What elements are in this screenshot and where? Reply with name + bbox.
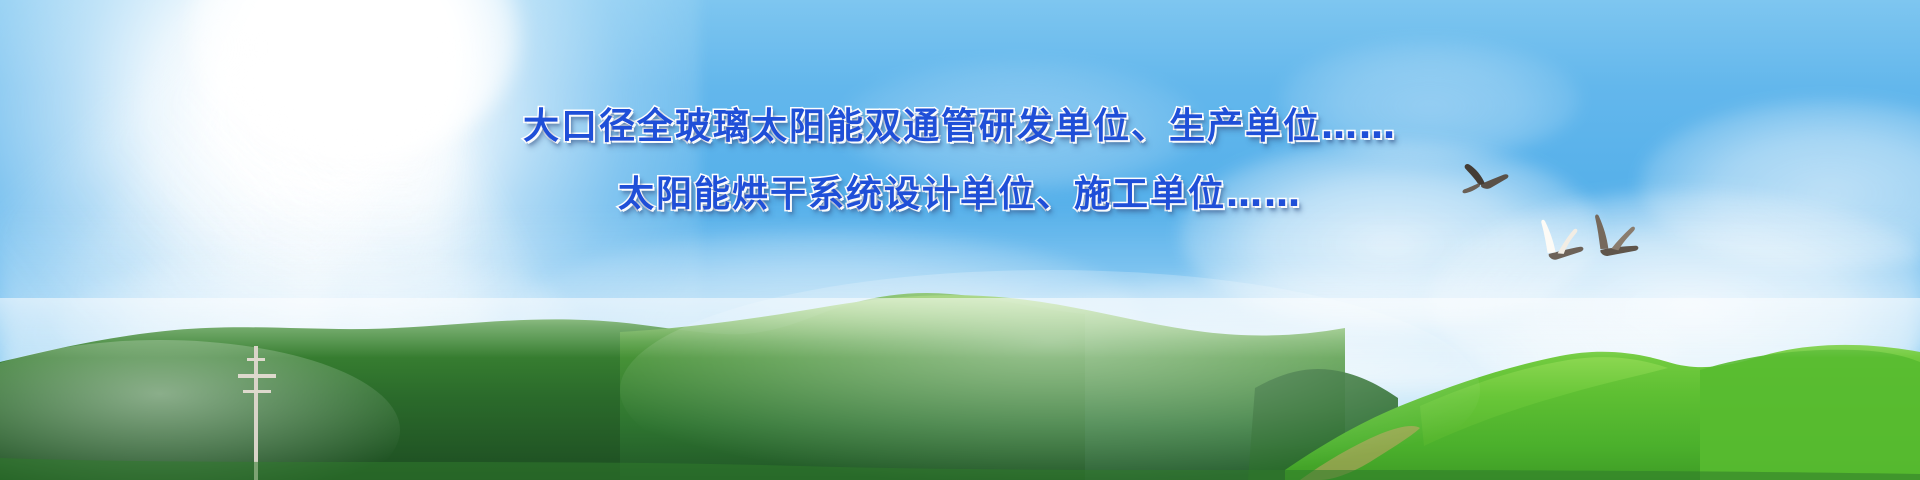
hero-banner: 大口径全玻璃太阳能双通管研发单位、生产单位…… 太阳能烘干系统设计单位、施工单位… [0,0,1920,480]
hill-grass-far-right [1700,350,1920,480]
land-haze [0,298,1920,358]
headline-line-1: 大口径全玻璃太阳能双通管研发单位、生产单位…… [0,96,1920,158]
banner-headline: 大口径全玻璃太阳能双通管研发单位、生产单位…… 太阳能烘干系统设计单位、施工单位… [0,96,1920,226]
headline-line-2: 太阳能烘干系统设计单位、施工单位…… [0,164,1920,226]
landscape [0,270,1920,480]
